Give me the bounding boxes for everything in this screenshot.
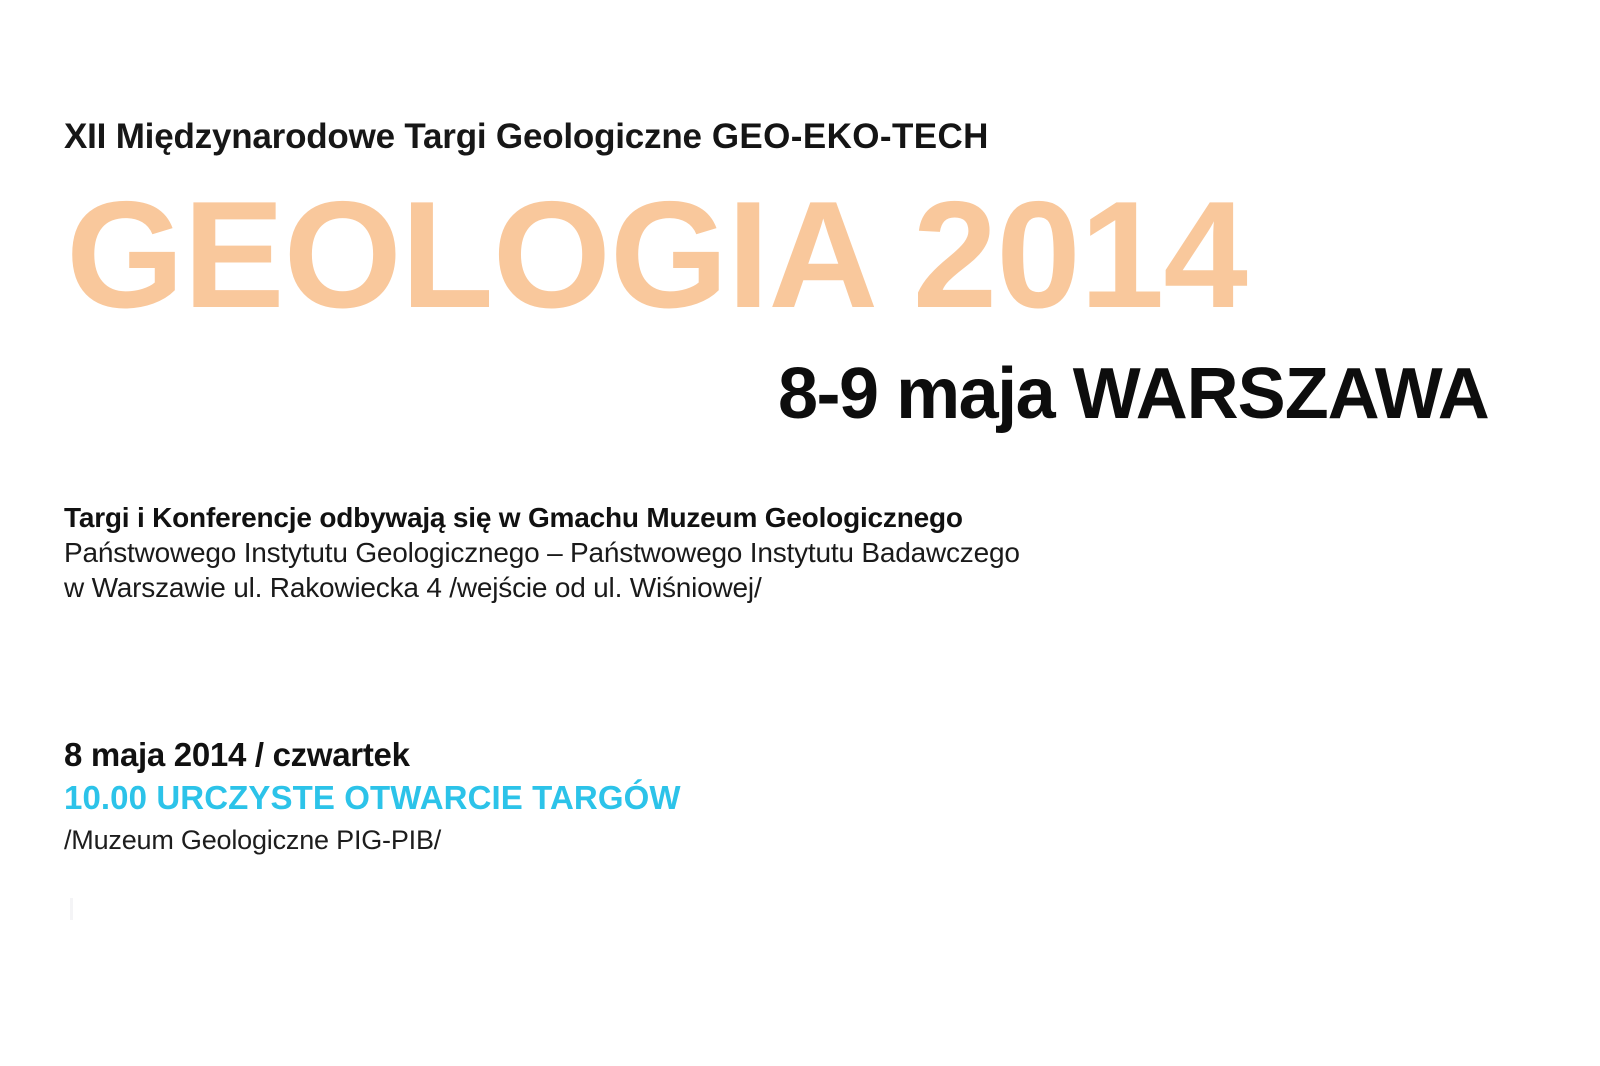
schedule-event-title: URCZYSTE OTWARCIE TARGÓW xyxy=(156,779,680,816)
schedule-event-time: 10.00 xyxy=(64,779,147,816)
schedule-event-row: 10.00 URCZYSTE OTWARCIE TARGÓW xyxy=(64,776,681,820)
venue-line-3: w Warszawie ul. Rakowiecka 4 /wejście od… xyxy=(64,570,1020,605)
event-series-heading: XII Międzynarodowe Targi GeologiczneGEO-… xyxy=(64,115,989,159)
event-dates: 8-9 maja xyxy=(778,354,1054,434)
venue-line-2: Państwowego Instytutu Geologicznego – Pa… xyxy=(64,535,1020,570)
event-series-name: XII Międzynarodowe Targi Geologiczne xyxy=(64,117,702,156)
poster-page: XII Międzynarodowe Targi GeologiczneGEO-… xyxy=(0,0,1600,1066)
event-brand-name: GEO-EKO-TECH xyxy=(712,117,989,156)
venue-line-1: Targi i Konferencje odbywają się w Gmach… xyxy=(64,500,1020,535)
date-and-city-line: 8-9 maja WARSZAWA xyxy=(778,352,1489,436)
schedule-event-location: /Muzeum Geologiczne PIG-PIB/ xyxy=(64,820,681,860)
venue-block: Targi i Konferencje odbywają się w Gmach… xyxy=(64,500,1020,605)
schedule-block: 8 maja 2014 / czwartek 10.00 URCZYSTE OT… xyxy=(64,734,681,860)
page-title: GEOLOGIA 2014 xyxy=(66,180,1247,330)
event-city: WARSZAWA xyxy=(1073,354,1489,434)
scan-artifact-mark xyxy=(70,898,73,920)
schedule-day-heading: 8 maja 2014 / czwartek xyxy=(64,734,681,776)
